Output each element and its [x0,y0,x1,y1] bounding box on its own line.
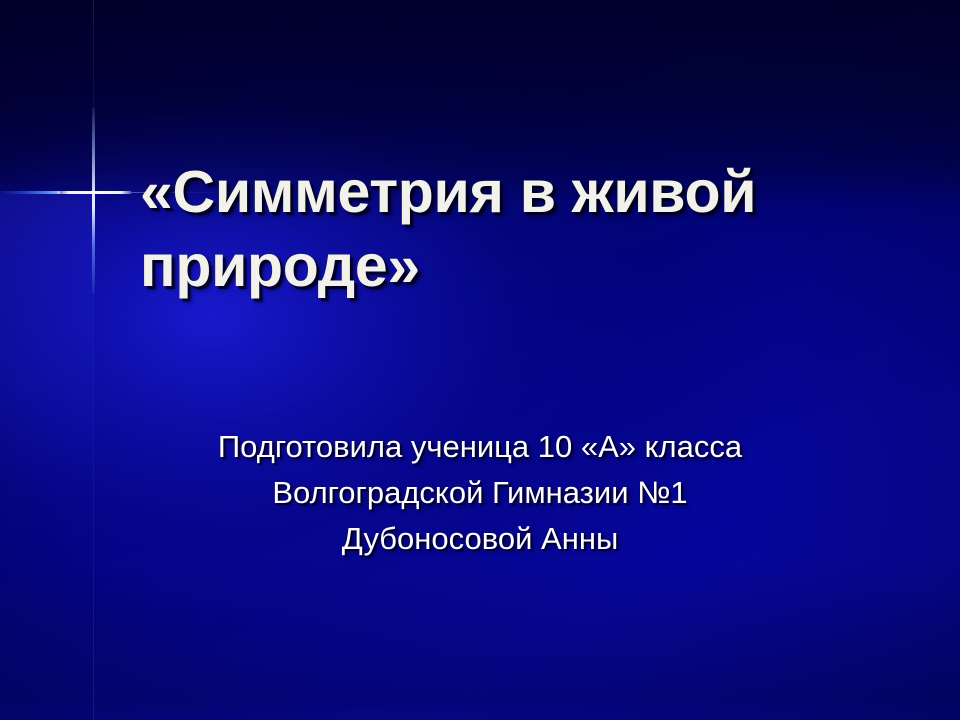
slide-title: «Симметрия в живой природе» [140,155,840,303]
ornament-horizontal-streak [0,191,60,194]
background-top-shade [0,0,960,720]
crosshair-ornament [0,0,960,720]
subtitle-line-3: Дубоносовой Анны [80,516,880,562]
title-line-1: «Симметрия в живой [140,155,840,229]
presentation-slide: «Симметрия в живой природе» Подготовила … [0,0,960,720]
ornament-vertical-line [92,108,95,294]
background-radial-bloom [0,0,960,720]
background-vignette [0,0,960,720]
slide-subtitle: Подготовила ученица 10 «А» класса Волгог… [80,424,880,562]
ornament-horizontal-line [57,191,131,194]
ornament-vertical-seam [93,0,94,720]
background-lower-band [0,0,960,720]
title-line-2: природе» [140,229,840,303]
subtitle-line-2: Волгоградской Гимназии №1 [80,470,880,516]
background-diagonal-gradient [0,0,960,720]
subtitle-line-1: Подготовила ученица 10 «А» класса [80,424,880,470]
